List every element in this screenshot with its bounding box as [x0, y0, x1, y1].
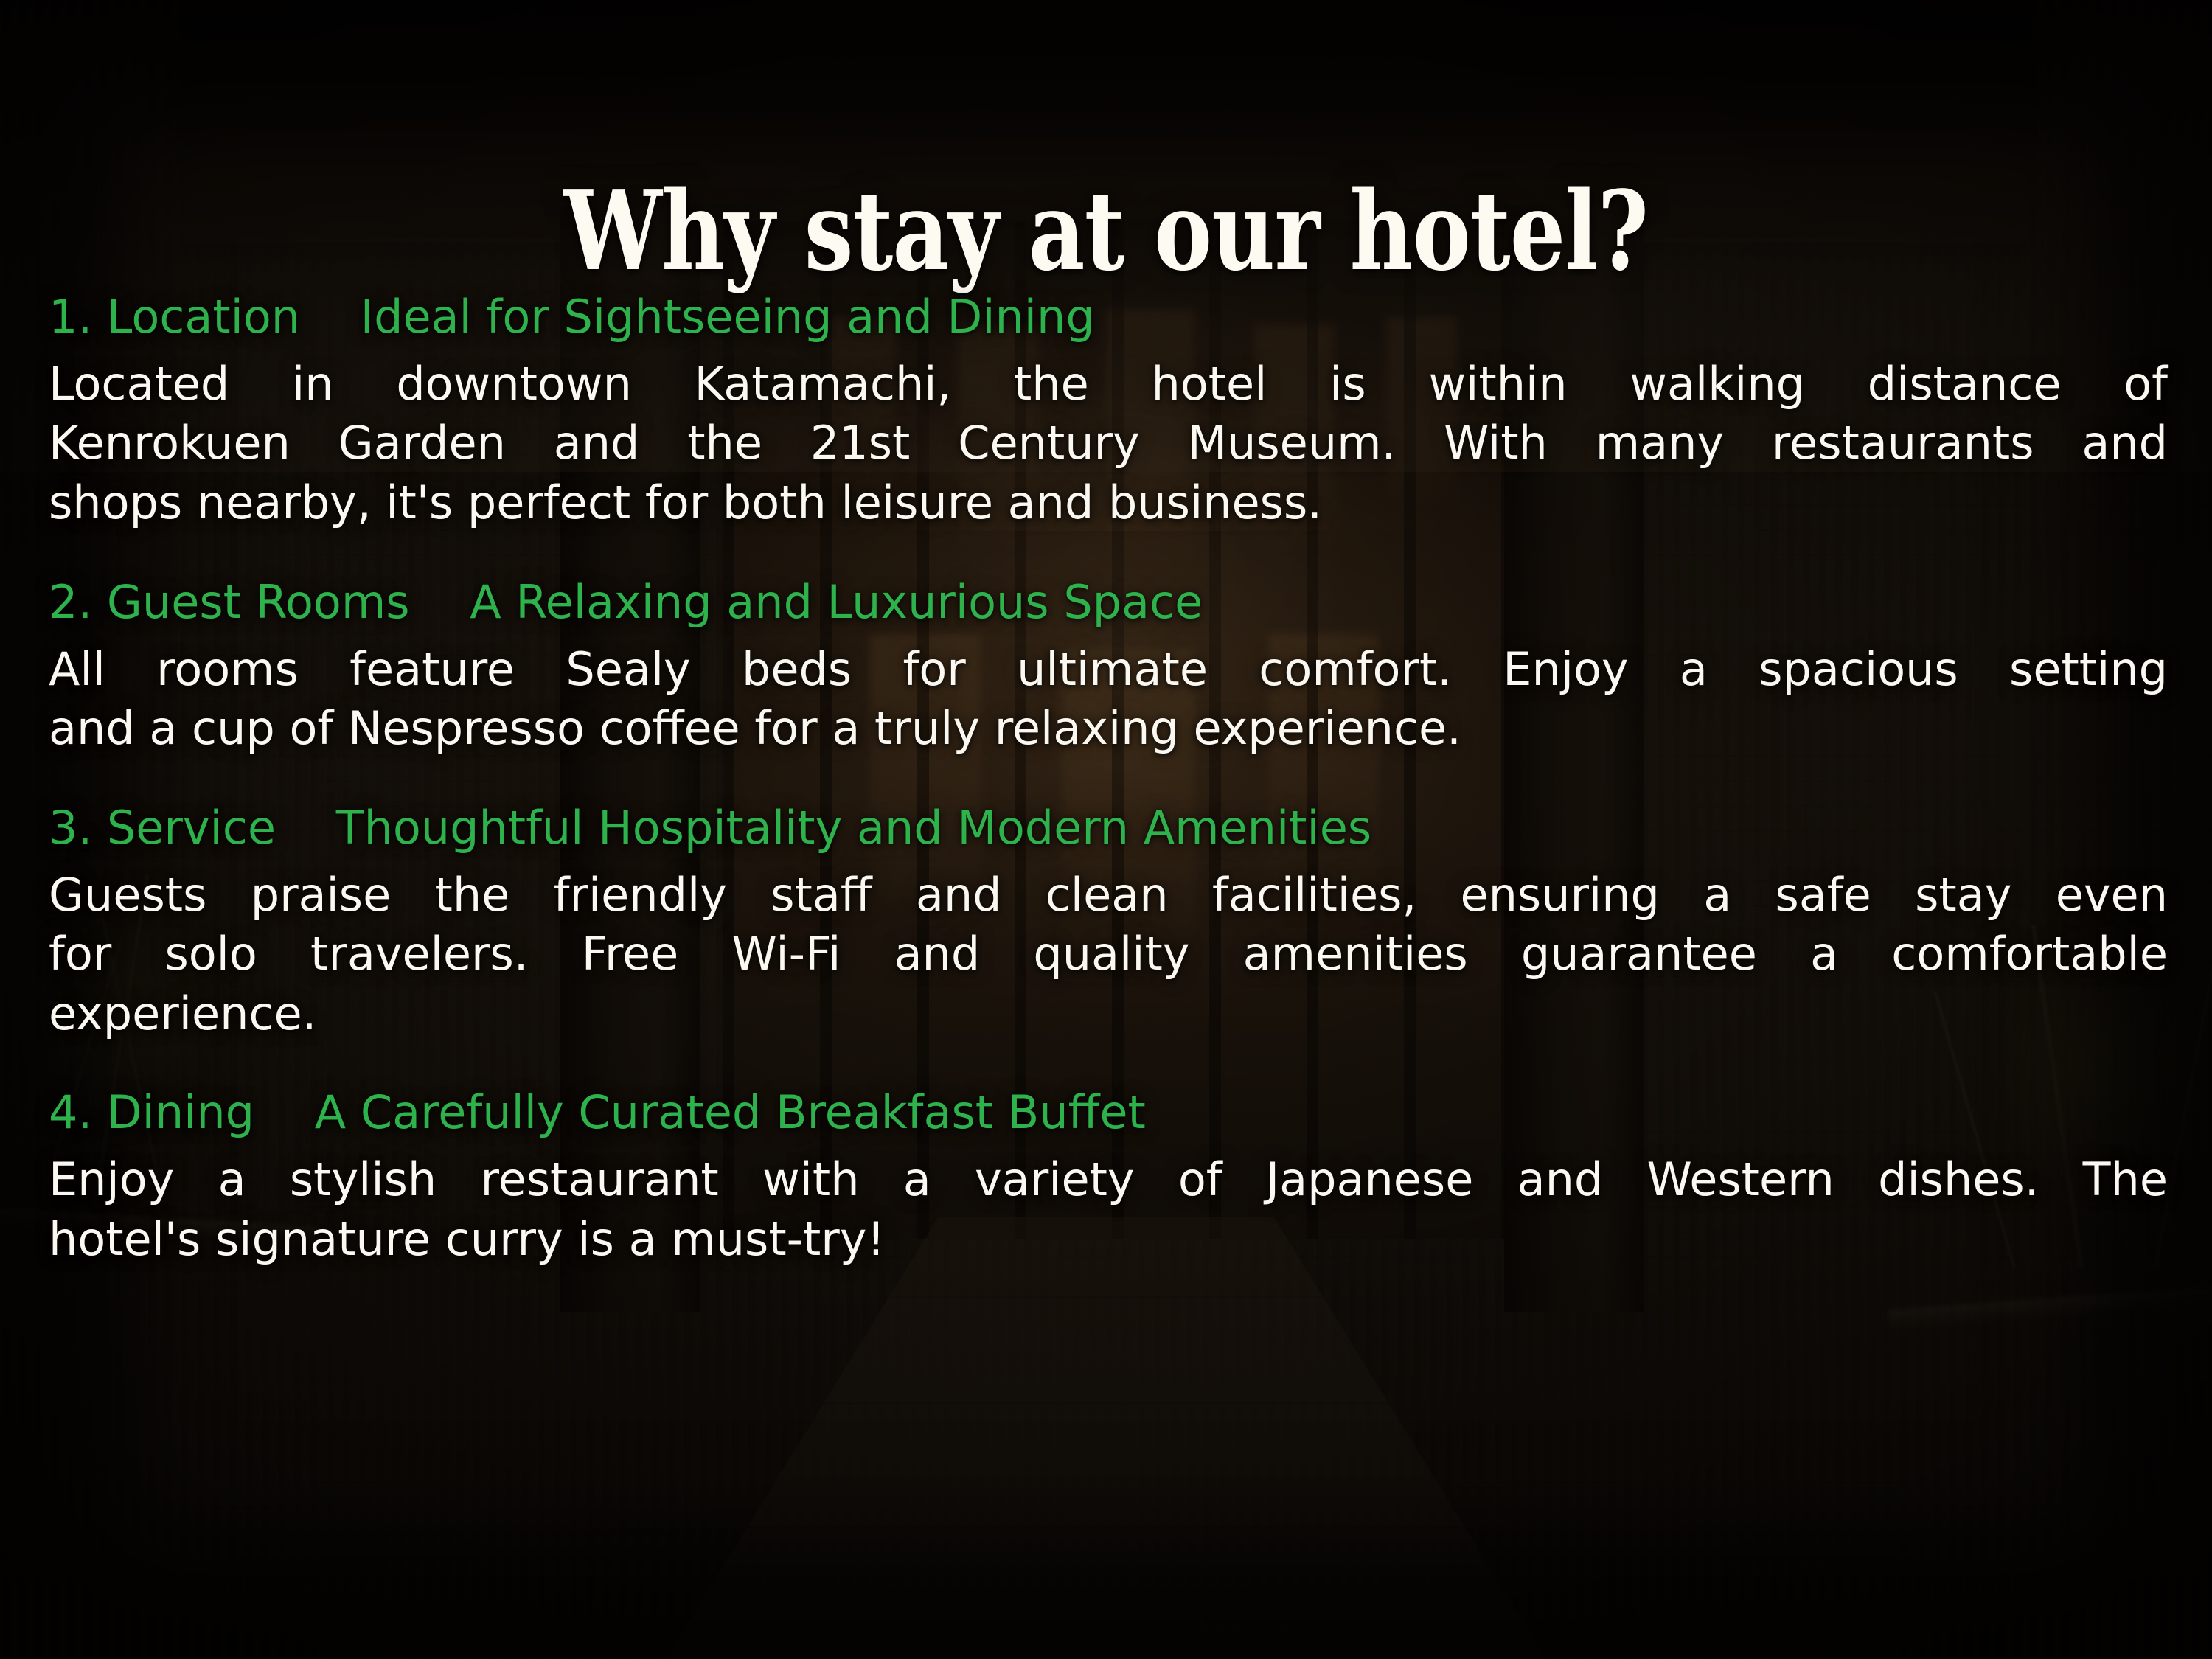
section-guest-rooms: 2. Guest Rooms A Relaxing and Luxurious … — [49, 574, 2168, 759]
section-body: Enjoy a stylish restaurant with a variet… — [49, 1150, 2168, 1269]
section-heading: 1. Location Ideal for Sightseeing and Di… — [49, 289, 2168, 346]
slide-content: Why stay at our hotel? 1. Location Ideal… — [0, 0, 2212, 1659]
body-line: experience. — [49, 984, 2168, 1044]
body-line: Enjoy a stylish restaurant with a variet… — [49, 1150, 2168, 1210]
section-heading: 4. Dining A Carefully Curated Breakfast … — [49, 1085, 2168, 1141]
slide-canvas: Why stay at our hotel? 1. Location Ideal… — [0, 0, 2212, 1659]
section-heading: 2. Guest Rooms A Relaxing and Luxurious … — [49, 574, 2168, 631]
body-line: for solo travelers. Free Wi-Fi and quali… — [49, 925, 2168, 984]
body-line: shops nearby, it's perfect for both leis… — [49, 473, 2168, 533]
body-line: All rooms feature Sealy beds for ultimat… — [49, 640, 2168, 700]
section-body: Located in downtown Katamachi, the hotel… — [49, 355, 2168, 533]
body-line: Kenrokuen Garden and the 21st Century Mu… — [49, 414, 2168, 473]
body-line: and a cup of Nespresso coffee for a trul… — [49, 699, 2168, 759]
sections-list: 1. Location Ideal for Sightseeing and Di… — [49, 289, 2168, 1269]
section-service: 3. Service Thoughtful Hospitality and Mo… — [49, 800, 2168, 1044]
body-line: hotel's signature curry is a must-try! — [49, 1210, 2168, 1270]
section-dining: 4. Dining A Carefully Curated Breakfast … — [49, 1085, 2168, 1269]
section-location: 1. Location Ideal for Sightseeing and Di… — [49, 289, 2168, 533]
section-body: All rooms feature Sealy beds for ultimat… — [49, 640, 2168, 759]
body-line: Guests praise the friendly staff and cle… — [49, 866, 2168, 925]
page-title: Why stay at our hotel? — [221, 176, 1991, 285]
body-line: Located in downtown Katamachi, the hotel… — [49, 355, 2168, 414]
section-body: Guests praise the friendly staff and cle… — [49, 866, 2168, 1044]
section-heading: 3. Service Thoughtful Hospitality and Mo… — [49, 800, 2168, 857]
